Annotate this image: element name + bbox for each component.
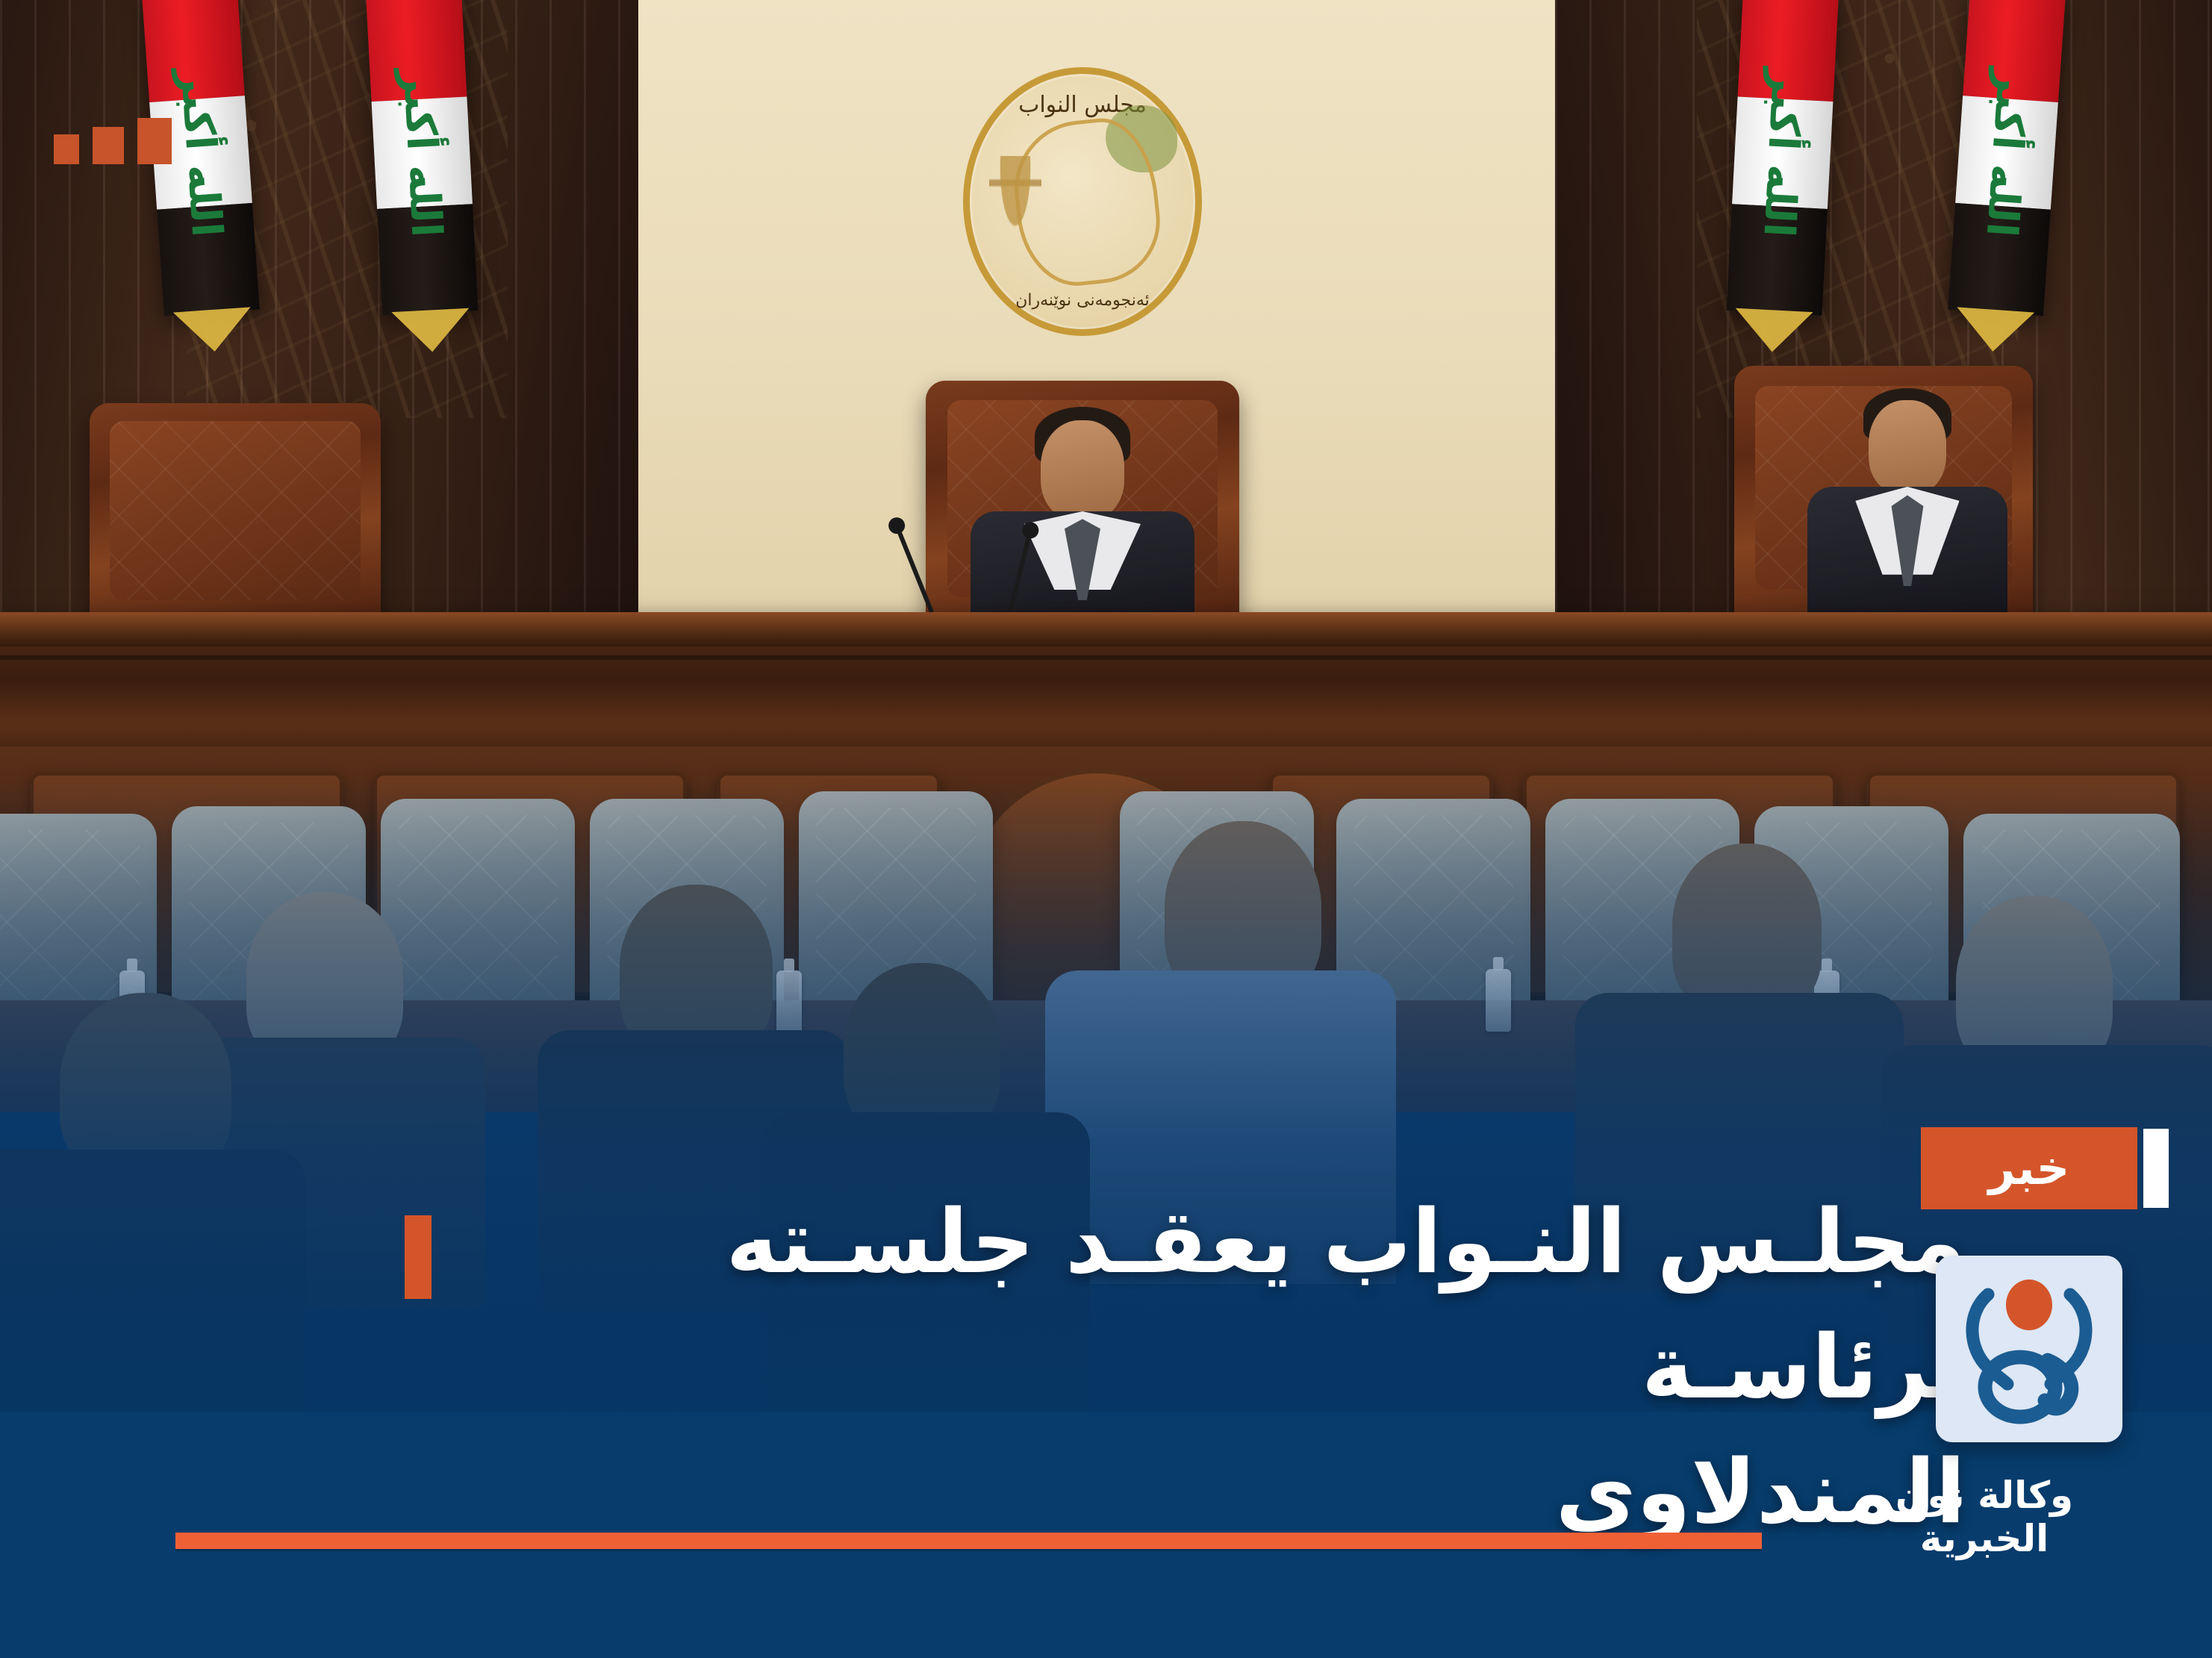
flag-takbir-text: الله أكبر <box>393 67 451 238</box>
agency-logo-icon[interactable] <box>1936 1256 2122 1442</box>
corner-tick-marks <box>54 118 172 164</box>
headline: مجلـس النـواب يعقـد جلسـته برئاسـة المند… <box>428 1179 1966 1555</box>
tick-mark-3 <box>54 134 79 164</box>
headline-underline-rule <box>175 1533 1762 1549</box>
news-badge: خبر <box>1921 1127 2137 1209</box>
tick-mark-1 <box>137 118 172 164</box>
dais-chair-left <box>90 403 381 627</box>
iraq-flag-2: الله أكبر <box>366 0 478 316</box>
emblem-text-bottom: ئه‌نجومه‌نى نوێنه‌ران <box>970 291 1195 310</box>
parliament-emblem-icon: مجلس النواب ئه‌نجومه‌نى نوێنه‌ران <box>963 67 1202 336</box>
news-badge-label: خبر <box>1989 1145 2070 1191</box>
tick-mark-2 <box>93 127 124 164</box>
news-card: مجلس النواب ئه‌نجومه‌نى نوێنه‌ران الله أ… <box>0 0 2212 1658</box>
session-chairman <box>959 407 1206 631</box>
iraq-flag-3: الله أكبر <box>1727 0 1839 316</box>
deputy-official <box>1795 388 2019 627</box>
logo-mark <box>1936 1256 2122 1442</box>
flag-takbir-text: الله أكبر <box>1754 67 1811 238</box>
agency-name: وكالة نون الخبرية <box>1824 1474 2137 1560</box>
headline-line-1: مجلـس النـواب يعقـد جلسـته برئاسـة <box>428 1179 1966 1430</box>
news-badge-stripe <box>2143 1129 2169 1208</box>
headline-accent-bar <box>405 1215 432 1299</box>
emblem-palm <box>989 156 1041 268</box>
brand-block: خبر وكالة نون الخبرية <box>1824 1127 2137 1560</box>
